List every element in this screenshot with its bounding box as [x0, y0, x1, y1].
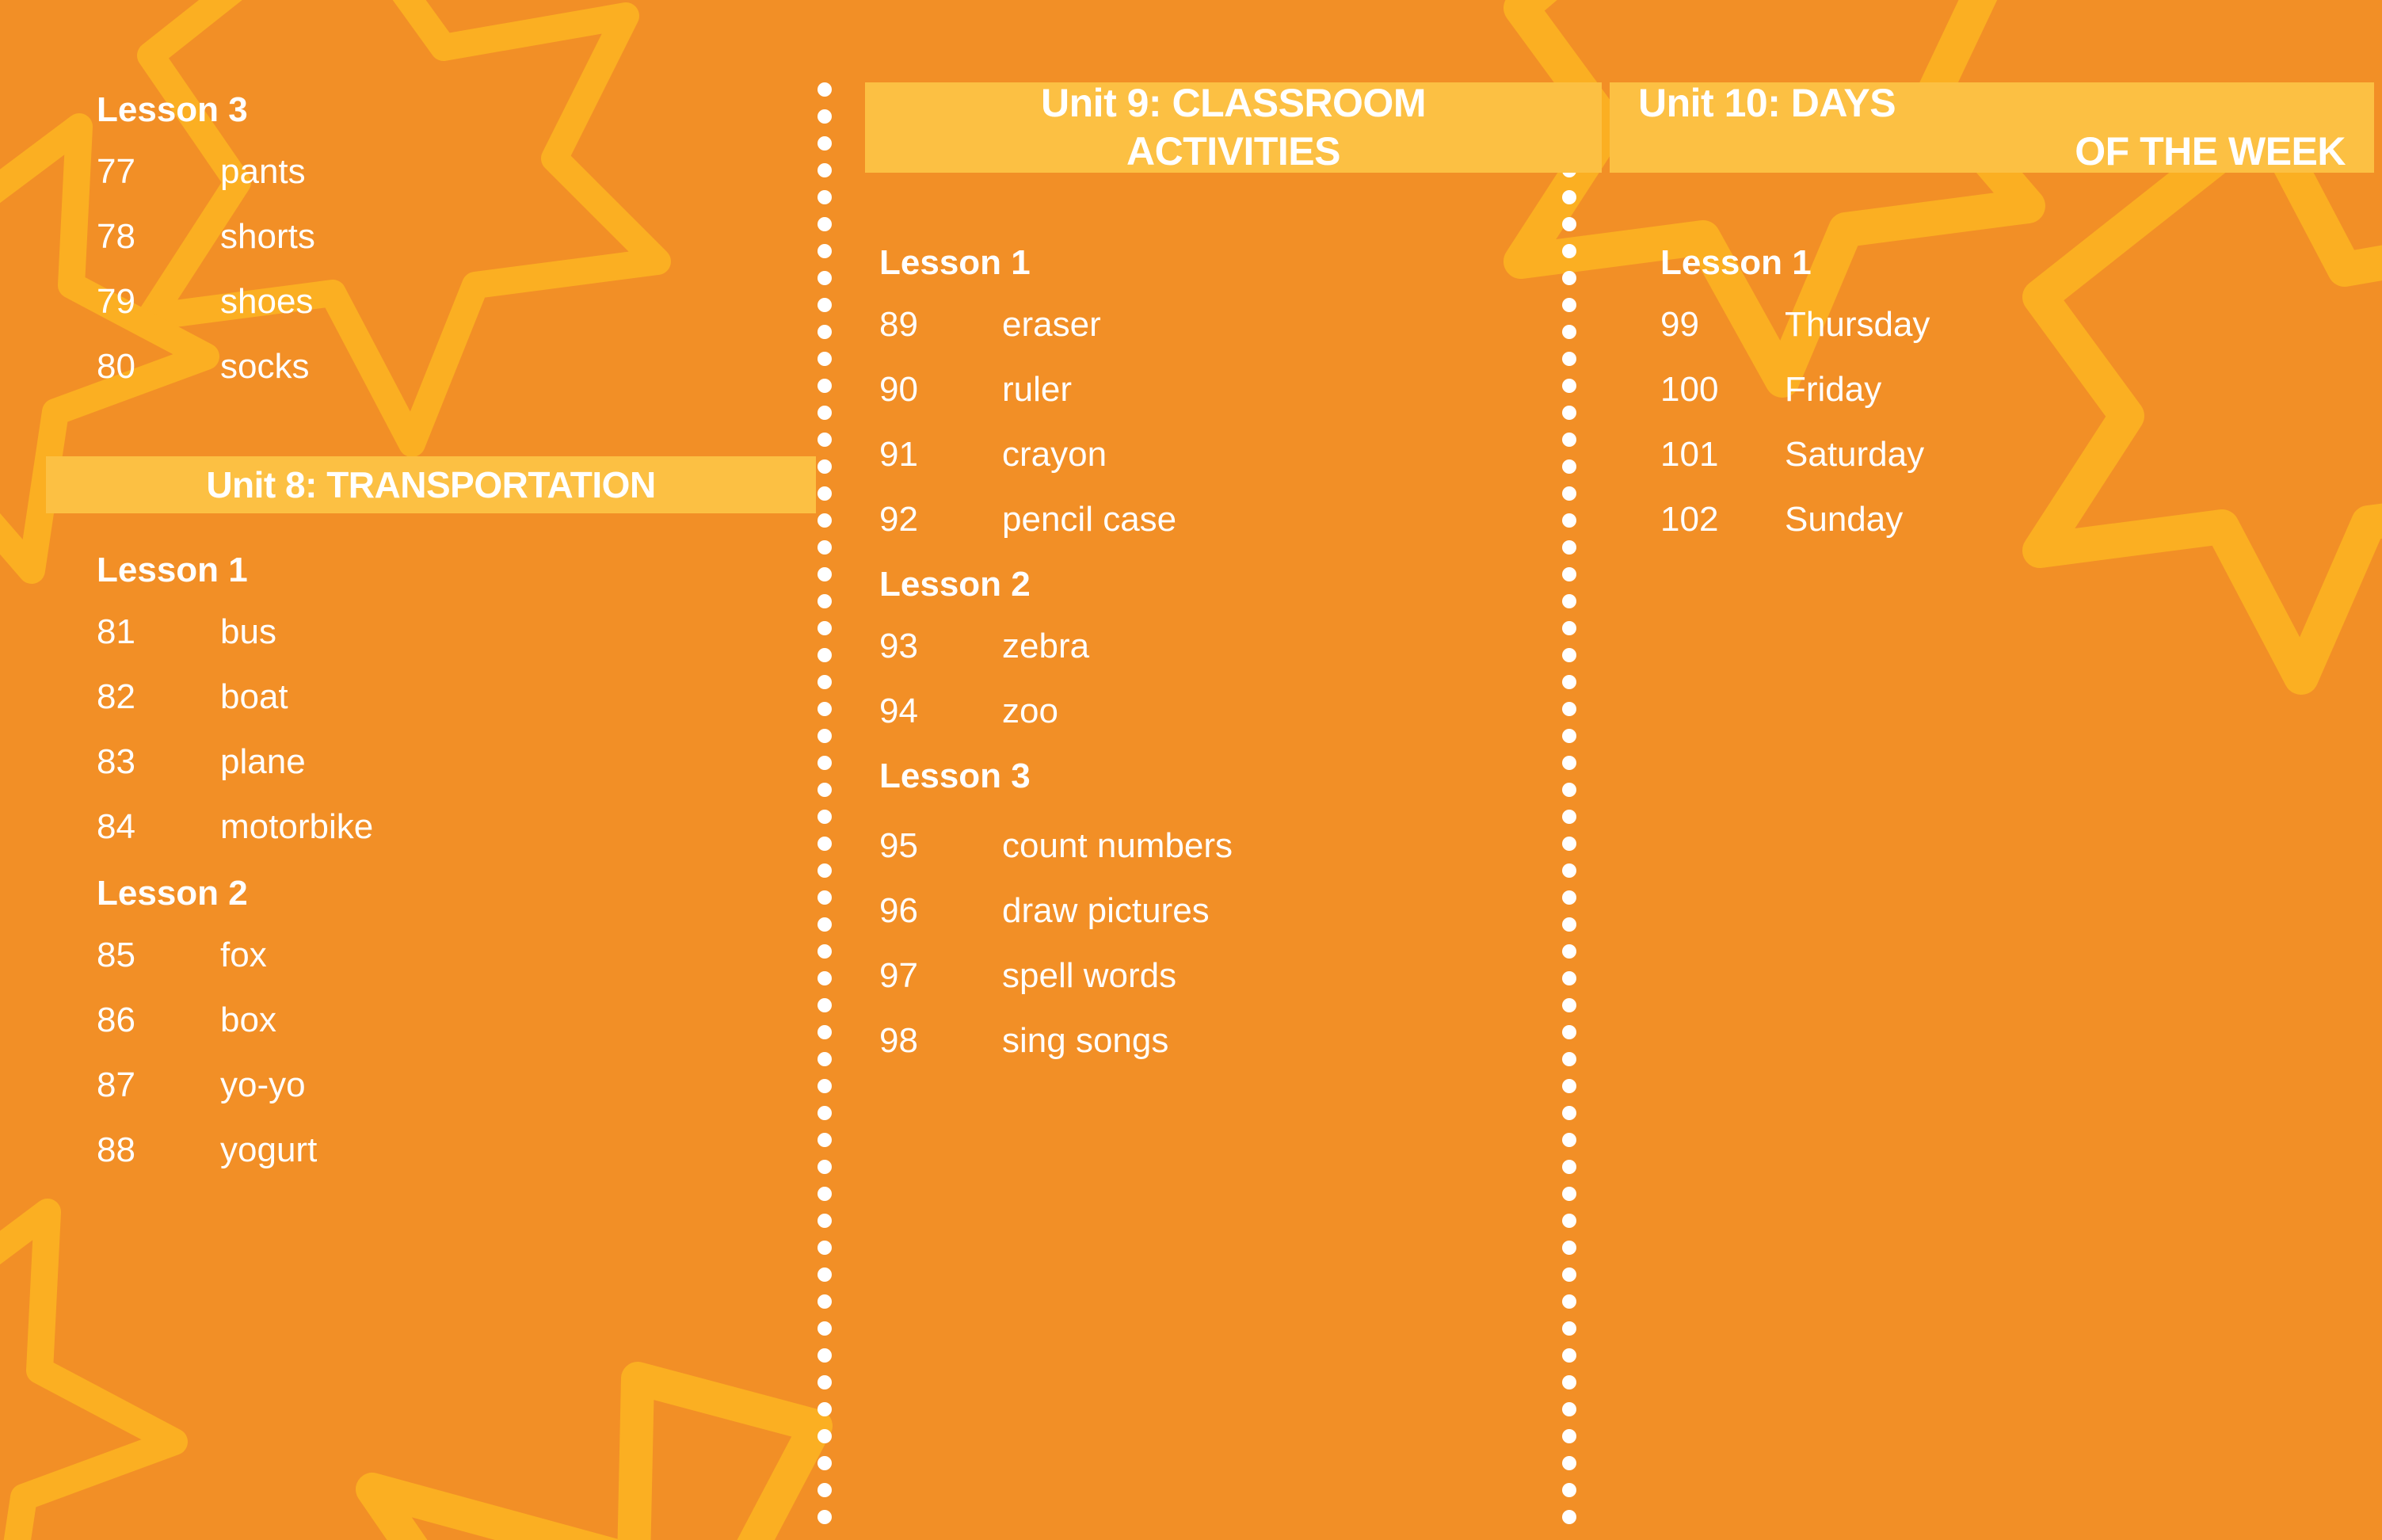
divider-dot — [1562, 1429, 1576, 1443]
divider-dot — [1562, 190, 1576, 204]
divider-dot — [818, 1241, 832, 1255]
unit-8-header-bar: Unit 8: TRANSPORTATION — [46, 456, 816, 513]
word-row: 101 Saturday — [1660, 437, 1924, 472]
divider-dot — [1562, 998, 1576, 1012]
divider-dot — [818, 1294, 832, 1309]
vocabulary-index-page: Lesson 3 77 pants 78 shorts 79 shoes 80 … — [0, 0, 2382, 1540]
word-label: yo-yo — [220, 1068, 306, 1103]
word-number: 99 — [1660, 307, 1785, 342]
divider-dot — [818, 594, 832, 608]
word-label: fox — [220, 938, 267, 973]
divider-dot — [818, 1348, 832, 1363]
unit-title-line: Unit 9: CLASSROOM — [886, 79, 1581, 128]
unit-title-line: Unit 10: DAYS — [1638, 79, 2346, 128]
word-label: crayon — [1002, 437, 1107, 472]
divider-dot — [1562, 271, 1576, 285]
word-label: Thursday — [1785, 307, 1930, 342]
word-label: bus — [220, 615, 276, 650]
divider-dot — [1562, 594, 1576, 608]
word-number: 81 — [97, 615, 220, 650]
word-row: 100 Friday — [1660, 372, 1881, 407]
divider-dot — [1562, 621, 1576, 635]
word-row: 83 plane — [97, 745, 306, 780]
word-label: box — [220, 1003, 276, 1038]
divider-dot — [818, 998, 832, 1012]
lesson-heading: Lesson 3 — [97, 93, 248, 128]
word-row: 99 Thursday — [1660, 307, 1930, 342]
lesson-heading: Lesson 3 — [879, 759, 1031, 794]
divider-dot — [818, 1133, 832, 1147]
divider-dot — [818, 109, 832, 124]
word-number: 83 — [97, 745, 220, 780]
divider-dot — [1562, 379, 1576, 393]
word-row: 87 yo-yo — [97, 1068, 306, 1103]
divider-dot — [1562, 1106, 1576, 1120]
divider-dot — [1562, 567, 1576, 581]
word-label: draw pictures — [1002, 894, 1210, 928]
divider-dot — [818, 1429, 832, 1443]
divider-dot — [1562, 406, 1576, 420]
word-row: 78 shorts — [97, 219, 315, 254]
word-label: yogurt — [220, 1133, 317, 1168]
divider-dot — [1562, 433, 1576, 447]
divider-dot — [818, 459, 832, 474]
divider-dot — [1562, 756, 1576, 770]
word-row: 102 Sunday — [1660, 502, 1903, 537]
divider-dot — [818, 325, 832, 339]
divider-dot — [818, 298, 832, 312]
word-number: 82 — [97, 680, 220, 715]
lesson-heading: Lesson 2 — [879, 567, 1031, 602]
divider-dot — [818, 486, 832, 501]
divider-dot — [818, 1025, 832, 1039]
word-row: 94 zoo — [879, 694, 1058, 729]
divider-dot — [1562, 1052, 1576, 1066]
word-label: plane — [220, 745, 306, 780]
divider-dot — [818, 729, 832, 743]
divider-dot — [818, 1187, 832, 1201]
divider-dot — [818, 890, 832, 905]
divider-dot — [818, 756, 832, 770]
divider-dot — [1562, 702, 1576, 716]
word-row: 97 spell words — [879, 959, 1176, 993]
background-star-decorations — [0, 0, 2382, 1540]
divider-dot — [818, 244, 832, 258]
word-label: eraser — [1002, 307, 1101, 342]
divider-dot — [818, 783, 832, 797]
word-number: 100 — [1660, 372, 1785, 407]
divider-dot — [1562, 1267, 1576, 1282]
word-number: 88 — [97, 1133, 220, 1168]
divider-dot — [1562, 1133, 1576, 1147]
divider-dot — [1562, 1079, 1576, 1093]
divider-dot — [1562, 783, 1576, 797]
divider-dot — [1562, 1241, 1576, 1255]
divider-dot — [1562, 729, 1576, 743]
word-number: 87 — [97, 1068, 220, 1103]
word-row: 82 boat — [97, 680, 288, 715]
divider-dot — [1562, 1456, 1576, 1470]
divider-dot — [818, 1321, 832, 1336]
divider-dot — [1562, 675, 1576, 689]
lesson-heading: Lesson 1 — [879, 246, 1031, 280]
divider-dot — [1562, 1375, 1576, 1389]
lesson-heading: Lesson 1 — [97, 553, 248, 588]
unit-title-line: Unit 8: TRANSPORTATION — [55, 463, 806, 507]
divider-dot — [818, 136, 832, 151]
word-number: 84 — [97, 810, 220, 844]
divider-dot — [818, 82, 832, 97]
word-label: spell words — [1002, 959, 1176, 993]
divider-dot — [1562, 459, 1576, 474]
divider-dot — [818, 1160, 832, 1174]
word-row: 80 socks — [97, 349, 309, 384]
word-label: sing songs — [1002, 1023, 1168, 1058]
word-row: 98 sing songs — [879, 1023, 1168, 1058]
divider-dot — [818, 540, 832, 555]
divider-dot — [1562, 1402, 1576, 1416]
divider-dot — [1562, 1025, 1576, 1039]
star-outline-bottom-center — [372, 1378, 879, 1540]
divider-dot — [818, 1483, 832, 1497]
word-row: 81 bus — [97, 615, 276, 650]
divider-dot — [818, 917, 832, 932]
word-row: 91 crayon — [879, 437, 1107, 472]
word-row: 85 fox — [97, 938, 267, 973]
column-divider-left — [818, 82, 832, 1540]
divider-dot — [1562, 863, 1576, 878]
divider-dot — [818, 1267, 832, 1282]
divider-dot — [818, 810, 832, 824]
word-label: zebra — [1002, 629, 1089, 664]
word-row: 79 shoes — [97, 284, 313, 319]
divider-dot — [818, 1052, 832, 1066]
word-label: shoes — [220, 284, 313, 319]
word-number: 78 — [97, 219, 220, 254]
divider-dot — [1562, 1483, 1576, 1497]
word-row: 92 pencil case — [879, 502, 1176, 537]
divider-dot — [818, 567, 832, 581]
divider-dot — [1562, 352, 1576, 366]
divider-dot — [818, 1456, 832, 1470]
divider-dot — [818, 190, 832, 204]
word-label: count numbers — [1002, 829, 1233, 863]
divider-dot — [818, 217, 832, 231]
word-row: 86 box — [97, 1003, 276, 1038]
word-label: socks — [220, 349, 309, 384]
word-number: 97 — [879, 959, 1002, 993]
word-label: boat — [220, 680, 288, 715]
word-label: pants — [220, 154, 306, 189]
divider-dot — [818, 621, 832, 635]
word-number: 98 — [879, 1023, 1002, 1058]
divider-dot — [1562, 890, 1576, 905]
unit-title-line: ACTIVITIES — [886, 128, 1581, 176]
word-row: 96 draw pictures — [879, 894, 1210, 928]
word-row: 88 yogurt — [97, 1133, 317, 1168]
divider-dot — [818, 163, 832, 177]
divider-dot — [818, 1214, 832, 1228]
divider-dot — [818, 675, 832, 689]
divider-dot — [818, 1106, 832, 1120]
word-number: 94 — [879, 694, 1002, 729]
word-number: 96 — [879, 894, 1002, 928]
divider-dot — [1562, 513, 1576, 528]
word-label: pencil case — [1002, 502, 1176, 537]
word-row: 95 count numbers — [879, 829, 1233, 863]
word-label: ruler — [1002, 372, 1072, 407]
divider-dot — [1562, 1160, 1576, 1174]
word-row: 90 ruler — [879, 372, 1072, 407]
lesson-heading: Lesson 2 — [97, 876, 248, 911]
word-number: 77 — [97, 154, 220, 189]
divider-dot — [1562, 325, 1576, 339]
divider-dot — [1562, 298, 1576, 312]
divider-dot — [1562, 1294, 1576, 1309]
word-number: 95 — [879, 829, 1002, 863]
divider-dot — [818, 1402, 832, 1416]
unit-9-header-bar: Unit 9: CLASSROOM ACTIVITIES — [865, 82, 1602, 173]
word-number: 80 — [97, 349, 220, 384]
divider-dot — [818, 1079, 832, 1093]
star-outline-right-middle — [2040, 119, 2382, 677]
divider-dot — [818, 1375, 832, 1389]
word-label: zoo — [1002, 694, 1058, 729]
word-number: 86 — [97, 1003, 220, 1038]
star-outline-bottom-left — [0, 1212, 174, 1540]
divider-dot — [1562, 971, 1576, 985]
word-row: 93 zebra — [879, 629, 1089, 664]
divider-dot — [1562, 1510, 1576, 1524]
divider-dot — [818, 863, 832, 878]
word-number: 91 — [879, 437, 1002, 472]
word-number: 85 — [97, 938, 220, 973]
divider-dot — [818, 702, 832, 716]
divider-dot — [1562, 540, 1576, 555]
divider-dot — [1562, 1348, 1576, 1363]
word-number: 93 — [879, 629, 1002, 664]
divider-dot — [1562, 1321, 1576, 1336]
word-label: shorts — [220, 219, 315, 254]
divider-dot — [1562, 486, 1576, 501]
divider-dot — [818, 971, 832, 985]
divider-dot — [1562, 648, 1576, 662]
divider-dot — [1562, 837, 1576, 851]
unit-10-header-bar: Unit 10: DAYS OF THE WEEK — [1610, 82, 2374, 173]
word-number: 102 — [1660, 502, 1785, 537]
divider-dot — [818, 406, 832, 420]
lesson-heading: Lesson 1 — [1660, 246, 1812, 280]
word-label: Saturday — [1785, 437, 1924, 472]
divider-dot — [1562, 244, 1576, 258]
divider-dot — [1562, 810, 1576, 824]
divider-dot — [818, 944, 832, 959]
divider-dot — [818, 433, 832, 447]
word-row: 84 motorbike — [97, 810, 373, 844]
divider-dot — [818, 379, 832, 393]
divider-dot — [818, 1510, 832, 1524]
word-row: 77 pants — [97, 154, 306, 189]
divider-dot — [818, 352, 832, 366]
divider-dot — [818, 271, 832, 285]
word-label: Sunday — [1785, 502, 1903, 537]
word-number: 92 — [879, 502, 1002, 537]
divider-dot — [818, 648, 832, 662]
divider-dot — [1562, 944, 1576, 959]
unit-title-line: OF THE WEEK — [1638, 128, 2346, 176]
divider-dot — [1562, 1187, 1576, 1201]
word-number: 101 — [1660, 437, 1785, 472]
word-number: 90 — [879, 372, 1002, 407]
column-divider-right — [1562, 82, 1576, 1540]
divider-dot — [1562, 1214, 1576, 1228]
divider-dot — [818, 837, 832, 851]
word-row: 89 eraser — [879, 307, 1101, 342]
divider-dot — [818, 513, 832, 528]
word-number: 79 — [97, 284, 220, 319]
divider-dot — [1562, 917, 1576, 932]
word-label: Friday — [1785, 372, 1881, 407]
word-label: motorbike — [220, 810, 373, 844]
divider-dot — [1562, 217, 1576, 231]
word-number: 89 — [879, 307, 1002, 342]
